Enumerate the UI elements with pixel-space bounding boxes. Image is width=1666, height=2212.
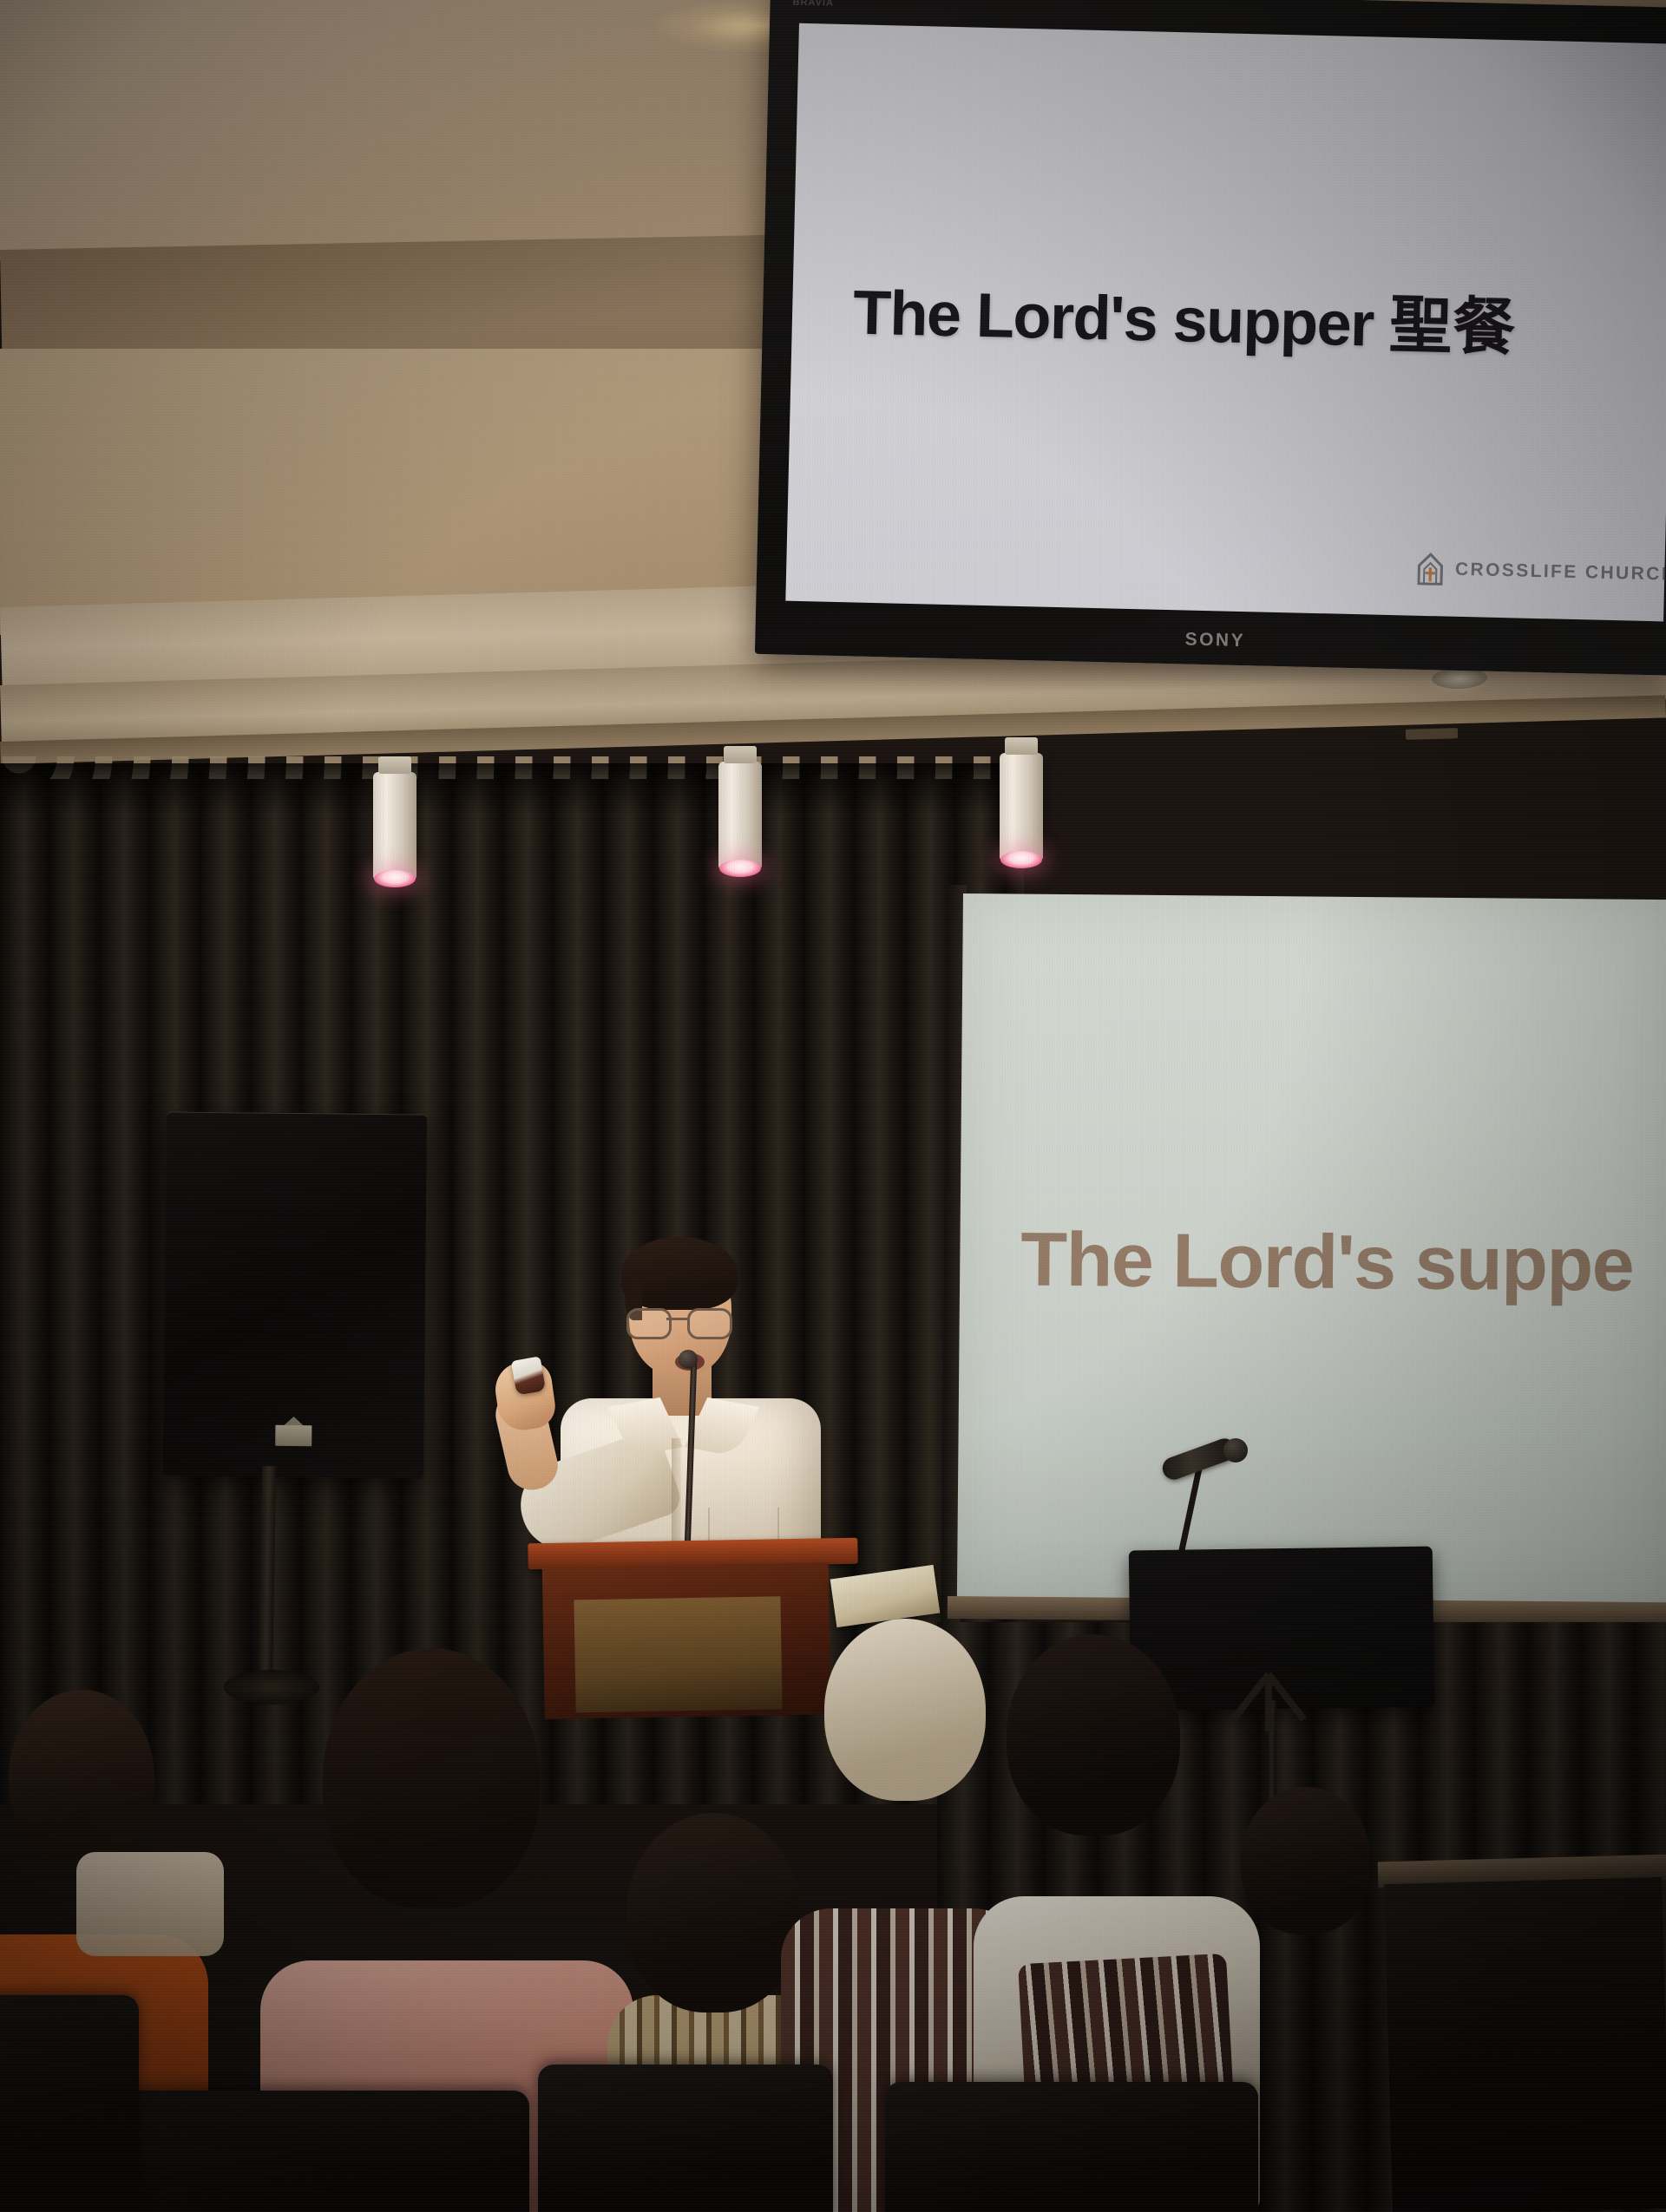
projection-screen: The Lord's suppe xyxy=(957,893,1666,1611)
audience-head-white-shirt xyxy=(1007,1634,1180,1836)
ceiling-vent xyxy=(1406,728,1458,740)
tv-slide-title-cjk: 聖餐 xyxy=(1388,291,1517,363)
audience-chair-center xyxy=(538,2065,833,2212)
side-table-body xyxy=(1384,1877,1666,2212)
audience-head-orange xyxy=(9,1690,154,1863)
glasses-icon xyxy=(625,1308,739,1334)
pa-speaker-badge-icon xyxy=(275,1425,312,1446)
tv-brand-top-label: BRAVIA xyxy=(792,0,834,9)
photo-scene: BRAVIA The Lord's supper 聖餐 CROSSLIFE CH… xyxy=(0,0,1666,2212)
tv-slide-title-en: The Lord's supper xyxy=(852,278,1374,359)
track-light-1 xyxy=(373,772,416,880)
wall-mounted-tv[interactable]: BRAVIA The Lord's supper 聖餐 CROSSLIFE CH… xyxy=(755,0,1666,676)
audience-head-back-right xyxy=(1241,1787,1371,1934)
speaker-hair xyxy=(621,1237,738,1310)
music-stand-legs xyxy=(1189,1674,1354,1735)
crosslife-church-logo-text: CROSSLIFE CHURCH xyxy=(1455,560,1666,586)
projection-slide-title: The Lord's suppe xyxy=(1020,1215,1634,1309)
tv-slide-title: The Lord's supper 聖餐 xyxy=(852,260,1517,367)
audience-head-white-hair xyxy=(824,1619,986,1801)
crosslife-church-logo: CROSSLIFE CHURCH xyxy=(1415,552,1666,592)
pa-loudspeaker xyxy=(163,1111,427,1478)
communion-cup xyxy=(511,1356,546,1395)
pa-speaker-stand-base xyxy=(224,1670,319,1705)
glasses-bridge xyxy=(666,1318,687,1320)
audience-chair-far-left xyxy=(0,1995,139,2212)
audience-chair-left xyxy=(113,2091,529,2212)
glasses-lens-right xyxy=(687,1308,732,1339)
track-light-3 xyxy=(1000,753,1043,861)
track-light-2 xyxy=(718,762,762,869)
audience-head-pink xyxy=(323,1648,540,1908)
glasses-lens-left xyxy=(626,1308,672,1339)
church-cross-icon xyxy=(1415,552,1446,587)
tv-screen: The Lord's supper 聖餐 CROSSLIFE CHURCH xyxy=(785,23,1666,622)
curtain-top-shadow xyxy=(0,763,1024,815)
podium-microphone-head-icon xyxy=(679,1350,698,1369)
audience-chair-right xyxy=(885,2082,1258,2212)
audience-head-plaid-tan xyxy=(626,1813,800,2012)
handheld-microphone-capsule xyxy=(1223,1438,1248,1463)
wooden-podium xyxy=(528,1538,860,1718)
podium-inner-panel xyxy=(574,1596,782,1712)
audience-lace-collar xyxy=(76,1852,224,1956)
